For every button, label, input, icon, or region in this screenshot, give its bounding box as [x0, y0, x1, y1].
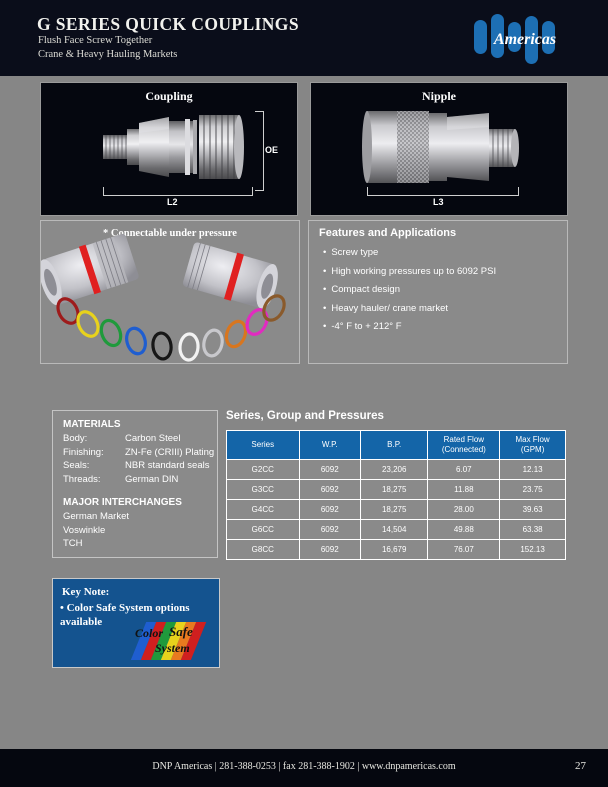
col-max-flow: Max Flow (GPM) — [500, 431, 566, 460]
col-series: Series — [227, 431, 300, 460]
materials-value: NBR standard seals — [125, 460, 209, 471]
materials-key: Threads: — [63, 473, 125, 487]
feature-item: Heavy hauler/ crane market — [323, 303, 496, 314]
l2-dimension-label: L2 — [167, 197, 178, 207]
materials-value: ZN-Fe (CRIII) Plating — [125, 447, 214, 458]
materials-row: Body:Carbon Steel — [63, 432, 207, 446]
l3-dimension-bracket — [367, 187, 519, 196]
page-title: G SERIES QUICK COUPLINGS — [37, 14, 299, 35]
connectable-under-pressure-panel: * Connectable under pressure — [40, 220, 300, 364]
table-header-row: Series W.P. B.P. Rated Flow (Connected) … — [227, 431, 566, 460]
feature-item: Screw type — [323, 247, 496, 258]
materials-key: Finishing: — [63, 446, 125, 460]
oe-dimension-bracket — [255, 111, 264, 191]
color-ring-green — [98, 318, 124, 349]
cell-rated-flow: 49.88 — [428, 520, 500, 540]
page-subtitle-1: Flush Face Screw Together — [38, 35, 152, 46]
spec-table-title: Series, Group and Pressures — [226, 410, 384, 422]
logo-wordmark: Americas — [493, 31, 556, 48]
cell-bp: 14,504 — [360, 520, 428, 540]
interchange-item: German Market — [63, 510, 207, 524]
cell-rated-flow: 11.88 — [428, 480, 500, 500]
features-title: Features and Applications — [319, 227, 456, 239]
cell-series: G6CC — [227, 520, 300, 540]
page-header: G SERIES QUICK COUPLINGS Flush Face Scre… — [0, 0, 608, 76]
table-row: G6CC 6092 14,504 49.88 63.38 — [227, 520, 566, 540]
cell-series: G4CC — [227, 500, 300, 520]
color-ring-orange — [223, 319, 249, 350]
color-ring-silver — [201, 328, 224, 357]
materials-title: MATERIALS — [63, 419, 207, 430]
color-ring-black — [151, 332, 172, 360]
materials-row: Finishing:ZN-Fe (CRIII) Plating — [63, 446, 207, 460]
features-list: Screw type High working pressures up to … — [323, 247, 496, 340]
oe-dimension-label: OE — [265, 145, 278, 155]
cell-bp: 16,679 — [360, 540, 428, 560]
cell-max-flow: 63.38 — [500, 520, 566, 540]
l2-dimension-bracket — [103, 187, 253, 196]
color-ring-magenta — [243, 306, 271, 337]
materials-key: Seals: — [63, 459, 125, 473]
interchange-item: Voswinkle — [63, 524, 207, 538]
cell-rated-flow: 76.07 — [428, 540, 500, 560]
cell-bp: 18,275 — [360, 480, 428, 500]
key-note-heading: Key Note: — [62, 586, 109, 598]
interchanges-title: MAJOR INTERCHANGES — [63, 497, 207, 508]
table-row: G4CC 6092 18,275 28.00 39.63 — [227, 500, 566, 520]
cell-max-flow: 12.13 — [500, 460, 566, 480]
coupling-image-panel: Coupling — [40, 82, 298, 216]
materials-key: Body: — [63, 432, 125, 446]
col-bp: B.P. — [360, 431, 428, 460]
cell-wp: 6092 — [299, 460, 360, 480]
cs-logo-line1: Color — [135, 626, 163, 640]
feature-item: Compact design — [323, 284, 496, 295]
cell-max-flow: 39.63 — [500, 500, 566, 520]
color-ring-blue — [124, 326, 148, 356]
color-ring-white — [179, 333, 199, 360]
materials-value: Carbon Steel — [125, 433, 180, 444]
materials-row: Seals:NBR standard seals — [63, 459, 207, 473]
page-number: 27 — [575, 760, 586, 772]
table-row: G3CC 6092 18,275 11.88 23.75 — [227, 480, 566, 500]
color-ring-brown — [260, 292, 289, 324]
cell-bp: 23,206 — [360, 460, 428, 480]
color-safe-system-logo: Color Safe System — [125, 620, 213, 662]
cs-logo-line3: System — [155, 641, 190, 655]
cell-bp: 18,275 — [360, 500, 428, 520]
interchange-item: TCH — [63, 537, 207, 551]
cell-series: G8CC — [227, 540, 300, 560]
cell-max-flow: 152.13 — [500, 540, 566, 560]
cell-rated-flow: 28.00 — [428, 500, 500, 520]
nipple-image-panel: Nipple — [310, 82, 568, 216]
features-panel: Features and Applications Screw type Hig… — [308, 220, 568, 364]
materials-value: German DIN — [125, 474, 178, 485]
feature-item: High working pressures up to 6092 PSI — [323, 266, 496, 277]
cell-max-flow: 23.75 — [500, 480, 566, 500]
cell-wp: 6092 — [299, 500, 360, 520]
spec-table: Series W.P. B.P. Rated Flow (Connected) … — [226, 430, 566, 560]
col-rated-flow: Rated Flow (Connected) — [428, 431, 500, 460]
cell-wp: 6092 — [299, 540, 360, 560]
key-note-panel: Key Note: • Color Safe System options av… — [52, 578, 220, 668]
cell-wp: 6092 — [299, 520, 360, 540]
dnp-americas-logo: Americas — [470, 12, 580, 66]
cs-logo-line2: Safe — [169, 624, 193, 639]
l3-dimension-label: L3 — [433, 197, 444, 207]
page-subtitle-2: Crane & Heavy Hauling Markets — [38, 49, 177, 60]
col-wp: W.P. — [299, 431, 360, 460]
cell-series: G3CC — [227, 480, 300, 500]
cell-rated-flow: 6.07 — [428, 460, 500, 480]
feature-item: -4° F to + 212° F — [323, 321, 496, 332]
cell-series: G2CC — [227, 460, 300, 480]
page-footer: DNP Americas | 281-388-0253 | fax 281-38… — [0, 749, 608, 787]
table-row: G2CC 6092 23,206 6.07 12.13 — [227, 460, 566, 480]
table-row: G8CC 6092 16,679 76.07 152.13 — [227, 540, 566, 560]
footer-contact-text: DNP Americas | 281-388-0253 | fax 281-38… — [0, 761, 608, 772]
materials-panel: MATERIALS Body:Carbon Steel Finishing:ZN… — [52, 410, 218, 558]
color-ring-arc — [41, 221, 299, 363]
cell-wp: 6092 — [299, 480, 360, 500]
materials-row: Threads:German DIN — [63, 473, 207, 487]
